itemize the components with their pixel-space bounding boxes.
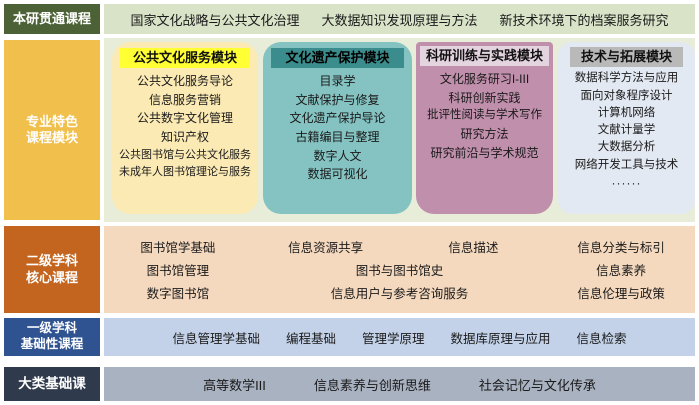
course-item: 大数据分析 [560, 139, 693, 156]
course-item: 文献计量学 [560, 122, 693, 139]
course-item: 目录学 [265, 72, 410, 91]
course-item: 图书馆管理 [104, 260, 252, 279]
curriculum-diagram: 本研贯通课程 国家文化战略与公共文化治理 大数据知识发现原理与方法 新技术环境下… [0, 0, 699, 405]
module-technology-extension: 技术与拓展模块 数据科学方法与应用 面向对象程序设计 计算机网络 文献计量学 大… [558, 42, 695, 214]
course-item: 科研创新实践 [418, 89, 551, 108]
row-label-dalei-jichu: 大类基础课 [4, 367, 100, 401]
course-item-ellipsis: ······ [560, 174, 693, 192]
course-item: 知识产权 [114, 128, 256, 147]
module-cultural-heritage-protection: 文化遗产保护模块 目录学 文献保护与修复 文化遗产保护导论 古籍编目与整理 数字… [263, 42, 412, 214]
row-label-text-line1: 一级学科 [21, 321, 84, 337]
module-title: 科研训练与实践模块 [420, 46, 549, 66]
row-label-text-line2: 核心课程 [26, 270, 78, 286]
course-item: 图书馆学基础 [104, 237, 252, 256]
course-item: 高等数学III [203, 375, 266, 394]
row-label-yiji-xueke: 一级学科 基础性课程 [4, 318, 100, 356]
course-item: 研究方法 [418, 125, 551, 144]
course-item: 信息检索 [577, 328, 627, 347]
course-item: 文化服务研习I-III [418, 70, 551, 89]
row-label-benyan-guantong: 本研贯通课程 [4, 4, 100, 34]
course-item: 未成年人图书馆理论与服务 [114, 164, 256, 181]
row-label-text-line2: 基础性课程 [21, 337, 84, 353]
course-item: 国家文化战略与公共文化治理 [130, 10, 299, 29]
course-item: 管理学原理 [362, 328, 425, 347]
course-item: 编程基础 [286, 328, 336, 347]
row-label-text-line2: 课程模块 [26, 130, 78, 146]
module-research-training-practice: 科研训练与实践模块 文化服务研习I-III 科研创新实践 批评性阅读与学术写作 … [416, 42, 553, 214]
module-title: 文化遗产保护模块 [271, 48, 404, 68]
course-item: 文化遗产保护导论 [265, 109, 410, 128]
row-label-text-line1: 二级学科 [26, 253, 78, 269]
course-item: 新技术环境下的档案服务研究 [500, 10, 669, 29]
course-list-row3: 图书馆学基础 信息资源共享 信息描述 信息分类与标引 图书馆管理 图书与图书馆史… [104, 226, 695, 313]
module-public-culture-service: 公共文化服务模块 公共文化服务导论 信息服务营销 公共数字文化管理 知识产权 公… [112, 42, 258, 214]
course-item: 数据库原理与应用 [451, 328, 551, 347]
module-title: 技术与拓展模块 [570, 47, 683, 67]
row-content-yiji-xueke: 信息管理学基础 编程基础 管理学原理 数据库原理与应用 信息检索 [104, 318, 695, 356]
row-content-erji-xueke: 图书馆学基础 信息资源共享 信息描述 信息分类与标引 图书馆管理 图书与图书馆史… [104, 226, 695, 313]
course-item: 信息用户与参考咨询服务 [252, 283, 548, 302]
course-item: 网络开发工具与技术 [560, 157, 693, 174]
course-item: 社会记忆与文化传承 [479, 375, 596, 394]
course-item: 批评性阅读与学术写作 [418, 107, 551, 125]
course-item: 数据可视化 [265, 165, 410, 184]
row-label-text: 本研贯通课程 [13, 11, 91, 27]
module-course-list: 数据科学方法与应用 面向对象程序设计 计算机网络 文献计量学 大数据分析 网络开… [558, 70, 695, 192]
course-item: 公共文化服务导论 [114, 72, 256, 91]
course-item: 数据科学方法与应用 [560, 70, 693, 87]
course-item: 信息描述 [400, 237, 548, 256]
row-label-text-line1: 专业特色 [26, 114, 78, 130]
course-item: 信息管理学基础 [172, 328, 260, 347]
course-item: 数字人文 [265, 147, 410, 166]
row-label-zhuanye-tese: 专业特色 课程模块 [4, 40, 100, 220]
row-label-text: 大类基础课 [18, 376, 86, 393]
row-content-dalei-jichu: 高等数学III 信息素养与创新思维 社会记忆与文化传承 [104, 367, 695, 401]
course-item: 面向对象程序设计 [560, 88, 693, 105]
course-item: 公共图书馆与公共文化服务 [114, 147, 256, 164]
module-course-list: 文化服务研习I-III 科研创新实践 批评性阅读与学术写作 研究方法 研究前沿与… [416, 70, 553, 162]
course-item: 大数据知识发现原理与方法 [321, 10, 477, 29]
course-list-row5: 高等数学III 信息素养与创新思维 社会记忆与文化传承 [104, 367, 695, 401]
course-item: 信息素养与创新思维 [314, 375, 431, 394]
course-list-row1: 国家文化战略与公共文化治理 大数据知识发现原理与方法 新技术环境下的档案服务研究 [104, 4, 695, 34]
course-item: 信息服务营销 [114, 91, 256, 110]
course-item: 数字图书馆 [104, 283, 252, 302]
row-content-benyan-guantong: 国家文化战略与公共文化治理 大数据知识发现原理与方法 新技术环境下的档案服务研究 [104, 4, 695, 34]
course-item: 信息伦理与政策 [547, 283, 695, 302]
course-item: 公共数字文化管理 [114, 109, 256, 128]
course-item: 信息分类与标引 [547, 237, 695, 256]
module-course-list: 目录学 文献保护与修复 文化遗产保护导论 古籍编目与整理 数字人文 数据可视化 [263, 72, 412, 184]
course-list-row4: 信息管理学基础 编程基础 管理学原理 数据库原理与应用 信息检索 [104, 318, 695, 356]
course-item: 信息素养 [547, 260, 695, 279]
row-label-erji-xueke: 二级学科 核心课程 [4, 226, 100, 313]
module-course-list: 公共文化服务导论 信息服务营销 公共数字文化管理 知识产权 公共图书馆与公共文化… [112, 72, 258, 180]
course-item: 图书与图书馆史 [252, 260, 548, 279]
module-title: 公共文化服务模块 [120, 48, 250, 68]
course-item: 研究前沿与学术规范 [418, 144, 551, 163]
course-item: 古籍编目与整理 [265, 128, 410, 147]
course-item: 信息资源共享 [252, 237, 400, 256]
course-item: 计算机网络 [560, 105, 693, 122]
course-item: 文献保护与修复 [265, 91, 410, 110]
